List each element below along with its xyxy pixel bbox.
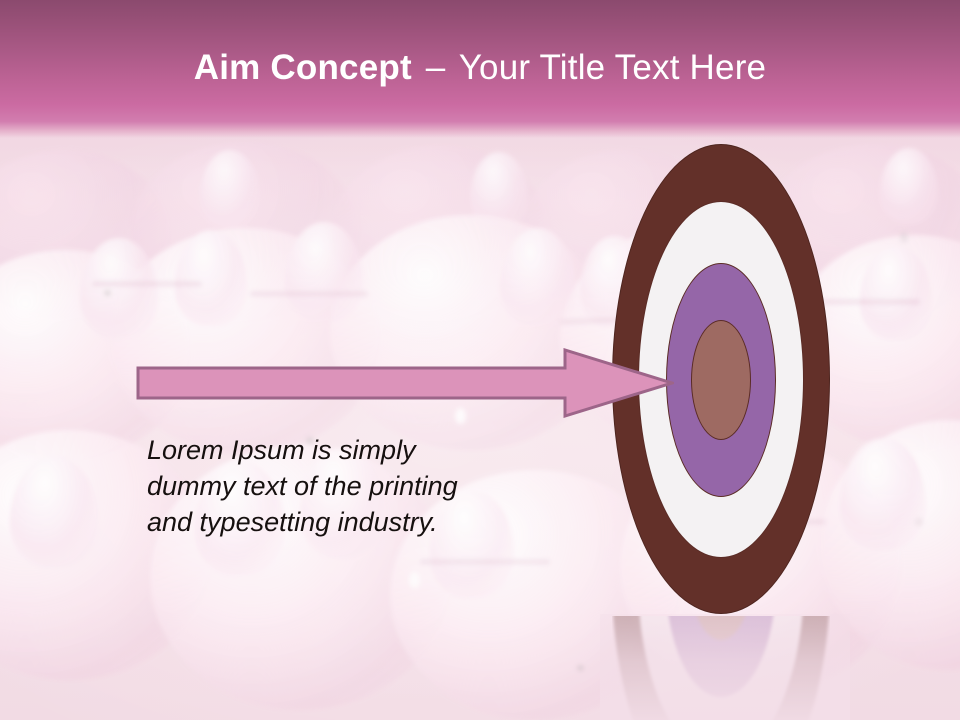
target-bullseye-center [691, 320, 751, 440]
pointer-arrow [136, 348, 674, 418]
body-line-1: Lorem Ipsum is simply [147, 432, 567, 468]
body-paragraph: Lorem Ipsum is simply dummy text of the … [147, 432, 567, 540]
body-line-3: and typesetting industry. [147, 504, 567, 540]
title-bold-part: Aim Concept [194, 48, 412, 87]
title-rest-part: Your Title Text Here [459, 48, 767, 87]
body-line-2: dummy text of the printing [147, 468, 567, 504]
slide-canvas: Lorem Ipsum is simply dummy text of the … [0, 0, 960, 720]
title-dash: – [422, 48, 450, 87]
page-title: Aim Concept – Your Title Text Here [0, 47, 960, 89]
target-reflection [612, 616, 830, 720]
